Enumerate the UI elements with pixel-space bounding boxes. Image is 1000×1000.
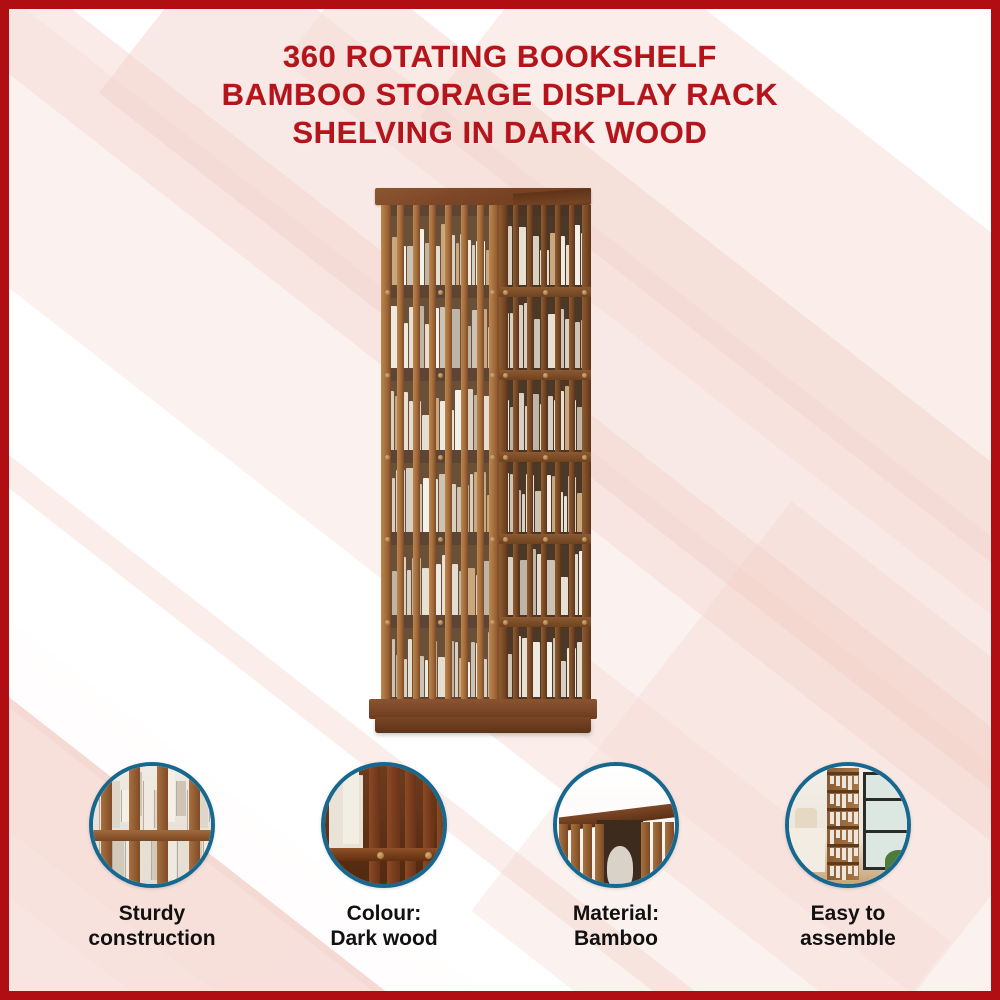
book-spine (404, 659, 407, 697)
caption-line-1: Colour: (330, 901, 437, 926)
shelf-top-cap (375, 188, 591, 205)
shelf-slat (189, 762, 200, 888)
shelf-screw (425, 852, 432, 859)
product-title: 360 ROTATING BOOKSHELF BAMBOO STORAGE DI… (0, 38, 1000, 152)
shelf-screw (503, 373, 508, 378)
book-spine (836, 812, 840, 826)
caption-line-2: Dark wood (330, 926, 437, 951)
book-spine (842, 866, 846, 880)
feature-item: Sturdy construction (57, 762, 247, 951)
window-mullion (863, 798, 911, 801)
book-spine (842, 776, 846, 788)
shelf-slat (387, 762, 400, 888)
book-spine (842, 848, 846, 860)
shelf-rail (827, 862, 859, 865)
plant (885, 850, 911, 872)
decor-vase (607, 846, 633, 888)
shelf-base-platform (369, 699, 597, 719)
shelf-slat (423, 762, 434, 888)
thumb-image (325, 766, 443, 884)
feature-item: Colour: Dark wood (289, 762, 479, 951)
book-spine (548, 396, 553, 450)
shelf-rail (827, 808, 859, 811)
shelf-screw (543, 455, 548, 460)
feature-caption: Sturdy construction (88, 901, 215, 951)
lamp (795, 808, 817, 828)
book-spine (532, 236, 539, 285)
book-spine (534, 319, 540, 367)
book-spine (209, 781, 215, 822)
shelf-screw (438, 373, 443, 378)
feature-item: Material: Bamboo (521, 762, 711, 951)
shelf-screw (582, 620, 587, 625)
thumb-material-bamboo (553, 762, 679, 888)
feature-caption: Material: Bamboo (573, 901, 659, 951)
book-spine (836, 866, 840, 878)
book-spine (848, 830, 852, 842)
book-spine (564, 496, 567, 532)
shelf-screw (385, 620, 390, 625)
shelf-rail (89, 830, 215, 841)
product-image-bookshelf (381, 188, 591, 733)
shelf-screw (503, 620, 508, 625)
book-spine (854, 848, 858, 856)
shelf-slat (129, 762, 140, 888)
book-spine (836, 794, 840, 806)
shelf-slat (665, 822, 674, 884)
shelf-screw (503, 455, 508, 460)
book-spine (842, 830, 846, 840)
shelf-screw (438, 455, 443, 460)
shelf-rotating-plinth (375, 717, 591, 733)
caption-line-1: Material: (573, 901, 659, 926)
shelf-slat (101, 762, 112, 888)
book-spine (471, 642, 475, 697)
shelf-slat (571, 824, 580, 884)
book-spine (830, 866, 834, 876)
book-spine (455, 642, 458, 697)
book-spine (203, 838, 215, 880)
book-spine (438, 657, 445, 697)
book-spine (522, 494, 525, 532)
thumb-sturdy-construction (89, 762, 215, 888)
book-spine (176, 781, 186, 816)
shelf-rail (827, 790, 859, 793)
book-spine (830, 794, 834, 804)
title-line-2: BAMBOO STORAGE DISPLAY RACK (0, 76, 1000, 114)
book-spine (508, 226, 512, 285)
book-spine (560, 577, 568, 614)
book-spine (470, 474, 473, 532)
book-spine (854, 776, 858, 784)
product-marketing-image: 360 ROTATING BOOKSHELF BAMBOO STORAGE DI… (0, 0, 1000, 1000)
book-spine (177, 838, 189, 880)
book-spine (836, 776, 840, 786)
book-spine (830, 812, 834, 824)
thumb-easy-to-assemble (785, 762, 911, 888)
title-line-1: 360 ROTATING BOOKSHELF (0, 38, 1000, 76)
feature-list: Sturdy construction Colour: Dark wood Ma… (0, 762, 1000, 962)
shelf-screw (385, 455, 390, 460)
shelf-slat (559, 824, 568, 884)
desk (789, 828, 825, 872)
shelf-screw (438, 620, 443, 625)
book-spine (830, 848, 834, 856)
book-spine (836, 830, 840, 838)
shelf-screw (543, 620, 548, 625)
book-spine (425, 660, 428, 697)
shelf-face-left (381, 205, 499, 699)
book-spine (546, 560, 555, 614)
window-mullion (863, 830, 911, 833)
shelf-screw (543, 373, 548, 378)
shelf-slat (641, 822, 650, 884)
shelf-screw (377, 852, 384, 859)
title-line-3: SHELVING IN DARK WOOD (0, 114, 1000, 152)
feature-caption: Colour: Dark wood (330, 901, 437, 951)
book-spine (472, 245, 475, 285)
book-spine (848, 794, 852, 802)
book-spine (854, 830, 858, 844)
feature-item: Easy to assemble (753, 762, 943, 951)
caption-line-2: assemble (800, 926, 896, 951)
book-spine (830, 776, 834, 784)
shelf-rail (827, 844, 859, 847)
thumb-image (93, 766, 211, 884)
book-spine (575, 322, 580, 367)
thumb-image (557, 766, 675, 884)
book-spine (452, 564, 458, 614)
book-spine (842, 812, 846, 820)
shelf-slat (675, 822, 679, 884)
book-spine (451, 309, 460, 367)
book-spine (143, 781, 153, 834)
shelf-screw (582, 455, 587, 460)
caption-line-1: Sturdy (88, 901, 215, 926)
shelf-screw (385, 373, 390, 378)
shelf-face-right (499, 205, 591, 699)
book-spine (422, 568, 429, 614)
book-spine (467, 568, 475, 614)
shelf-rail (827, 826, 859, 829)
book-spine (854, 866, 858, 876)
book-spine (392, 478, 395, 532)
book-spine (575, 554, 578, 614)
book-spine (848, 848, 852, 862)
shelf-slat (583, 824, 592, 884)
book-page (343, 770, 359, 844)
shelf-screw (490, 620, 495, 625)
book-spine (854, 794, 858, 804)
shelf-rail (827, 772, 859, 775)
shelf-slat (369, 762, 380, 888)
book-spine (407, 570, 411, 614)
bookshelf-in-room (827, 768, 859, 880)
book-spine (404, 323, 408, 367)
shelf-slat (157, 762, 168, 888)
shelf-slat (405, 762, 416, 888)
thumb-colour-dark-wood (321, 762, 447, 888)
book-spine (848, 866, 852, 874)
thumb-image (789, 766, 907, 884)
book-spine (112, 838, 124, 880)
book-spine (547, 475, 551, 532)
shelf-screw (490, 373, 495, 378)
book-spine (836, 848, 840, 858)
shelf-slat (653, 822, 662, 884)
book-spine (848, 812, 852, 822)
caption-line-2: construction (88, 926, 215, 951)
book-spine (436, 564, 441, 614)
book-spine (456, 243, 459, 285)
book-spine (532, 642, 540, 697)
book-spine (392, 639, 395, 697)
book-spine (854, 812, 858, 824)
caption-line-1: Easy to (800, 901, 896, 926)
book-spine (842, 794, 846, 808)
shelf-slat (595, 824, 604, 884)
shelf-screw (490, 455, 495, 460)
feature-caption: Easy to assemble (800, 901, 896, 951)
caption-line-2: Bamboo (573, 926, 659, 951)
book-spine (848, 776, 852, 790)
shelf-screw (582, 373, 587, 378)
shelf-slat (437, 762, 447, 888)
book-spine (830, 830, 834, 844)
book-spine (408, 639, 412, 697)
